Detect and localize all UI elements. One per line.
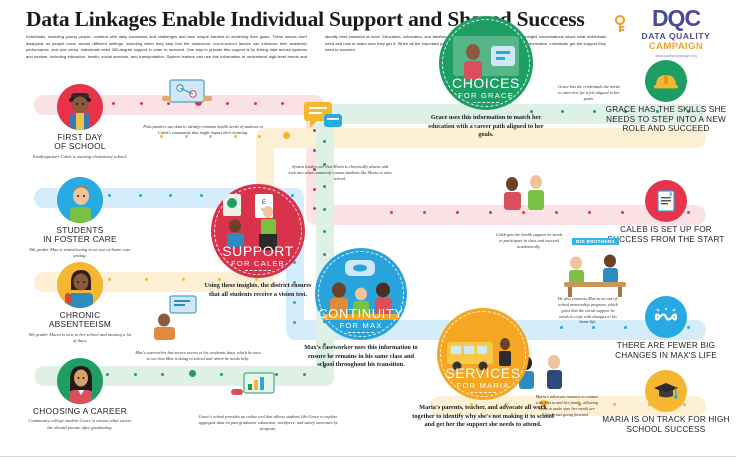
badge-caption: Max's caseworker uses this information t… (296, 344, 426, 370)
persona-description: 8th grader Max is transitioning to an ou… (18, 247, 142, 259)
graduation-cap-icon (645, 370, 687, 412)
badge-choices-for-grace[interactable]: CHOICES FOR GRACE Grace uses this inform… (424, 16, 548, 140)
scene-max-data (150, 292, 202, 345)
caption-grace-online-tool: Grace's school provides an online tool t… (194, 414, 342, 432)
hard-hat-icon (645, 60, 687, 102)
caption-caleb-policymakers: Policymakers use data to identify common… (142, 124, 264, 136)
badge-circle: CONTINUITY FOR MAX (315, 248, 407, 340)
outcome-max[interactable]: THERE ARE FEWER BIG CHANGES IN MAX'S LIF… (600, 296, 732, 360)
scene-grace-data (228, 372, 284, 411)
outcome-grace[interactable]: GRACE HAS THE SKILLS SHE NEEDS TO STEP I… (600, 60, 732, 134)
badge-continuity-for-max[interactable]: CONTINUITY FOR MAX Max's caseworker uses… (296, 248, 426, 370)
badge-circle: SERVICES FOR MARIA (437, 308, 529, 400)
outcome-text: GRACE HAS THE SKILLS SHE NEEDS TO STEP I… (600, 105, 732, 134)
logo-line-2: CAMPAIGN (630, 42, 722, 52)
persona-students-in-foster-care[interactable]: STUDENTS IN FOSTER CARE 8th grader Max i… (18, 177, 142, 259)
big-brothers-ribbon: BIG BROTHERS (572, 238, 619, 245)
badge-label: CONTINUITY FOR MAX (315, 307, 407, 333)
avatar (57, 262, 103, 308)
caption-maria-system-leaders: System leaders see that Maria is chronic… (288, 164, 392, 182)
dqc-logo: DQC DATA QUALITY CAMPAIGN dataqualitycam… (630, 6, 722, 58)
scene-caleb-data (160, 78, 214, 113)
persona-description: Community college student Grace is unsur… (18, 418, 142, 430)
badge-word: SUPPORT (211, 244, 305, 258)
infinity-icon (645, 296, 687, 338)
logo-mark: DQC (630, 6, 722, 31)
badge-subject: FOR CALEB (211, 259, 305, 268)
svg-text:E: E (262, 200, 266, 206)
badge-subject: FOR MAX (315, 321, 407, 330)
badge-label: CHOICES FOR GRACE (439, 76, 533, 103)
persona-chronic-absenteeism[interactable]: CHRONIC ABSENTEEISM 9th grader Maria is … (18, 262, 142, 344)
logo-wordmark: DQC (652, 7, 700, 30)
outcome-text: THERE ARE FEWER BIG CHANGES IN MAX'S LIF… (600, 341, 732, 360)
scene-caleb-result (496, 168, 552, 219)
avatar (57, 177, 103, 223)
persona-title: FIRST DAY OF SCHOOL (18, 133, 142, 152)
avatar (57, 358, 103, 404)
badge-word: CONTINUITY (315, 307, 407, 320)
persona-title: CHOOSING A CAREER (18, 407, 142, 416)
persona-description: 9th grader Maria is new to her school an… (18, 332, 142, 344)
persona-choosing-a-career[interactable]: CHOOSING A CAREER Community college stud… (18, 358, 142, 431)
badge-label: SUPPORT FOR CALEB (211, 244, 305, 271)
badge-caption: Grace uses this information to match her… (424, 114, 548, 140)
caption-caleb-health-support: Caleb gets the health support he needs t… (494, 232, 564, 250)
badge-dash (348, 332, 374, 333)
student-maria-illustration (57, 262, 103, 308)
caption-max-caseworker-access: Max's caseworker has secure access to hi… (134, 350, 262, 362)
svg-text:A: A (669, 192, 673, 198)
scene-maria-data (300, 98, 346, 143)
badge-dash (473, 102, 499, 103)
persona-title: CHRONIC ABSENTEEISM (18, 311, 142, 330)
badge-word: CHOICES (439, 76, 533, 90)
outcome-caleb[interactable]: A CALEB IS SET UP FOR SUCCESS FROM THE S… (600, 180, 732, 244)
badge-label: SERVICES FOR MARIA (437, 366, 529, 393)
avatar (57, 84, 103, 130)
outcome-maria[interactable]: MARIA IS ON TRACK FOR HIGH SCHOOL SUCCES… (600, 370, 732, 434)
student-caleb-illustration (57, 84, 103, 130)
badge-dash (470, 392, 496, 393)
infographic-page: Data Linkages Enable Individual Support … (0, 0, 736, 460)
footer-divider (0, 456, 736, 457)
student-grace-illustration (57, 358, 103, 404)
badge-circle: E FP SUPPORT FOR CALEB (211, 184, 305, 278)
report-card-icon: A (645, 180, 687, 222)
persona-title: STUDENTS IN FOSTER CARE (18, 226, 142, 245)
badge-subject: FOR GRACE (439, 91, 533, 100)
outcome-text: CALEB IS SET UP FOR SUCCESS FROM THE STA… (600, 225, 732, 244)
badge-circle: CHOICES FOR GRACE (439, 16, 533, 110)
outcome-text: MARIA IS ON TRACK FOR HIGH SCHOOL SUCCES… (600, 415, 732, 434)
persona-description: Kindergartner Caleb is starting elementa… (18, 154, 142, 160)
persona-first-day-of-school[interactable]: FIRST DAY OF SCHOOL Kindergartner Caleb … (18, 84, 142, 160)
logo-url: dataqualitycampaign.org (630, 54, 722, 58)
badge-subject: FOR MARIA (437, 381, 529, 390)
badge-word: SERVICES (437, 366, 529, 380)
badge-dash (245, 270, 271, 271)
student-max-illustration (57, 177, 103, 223)
badge-services-for-maria[interactable]: SERVICES FOR MARIA Maria's parents, teac… (408, 308, 558, 430)
badge-caption: Maria's parents, teacher, and advocate a… (408, 404, 558, 430)
